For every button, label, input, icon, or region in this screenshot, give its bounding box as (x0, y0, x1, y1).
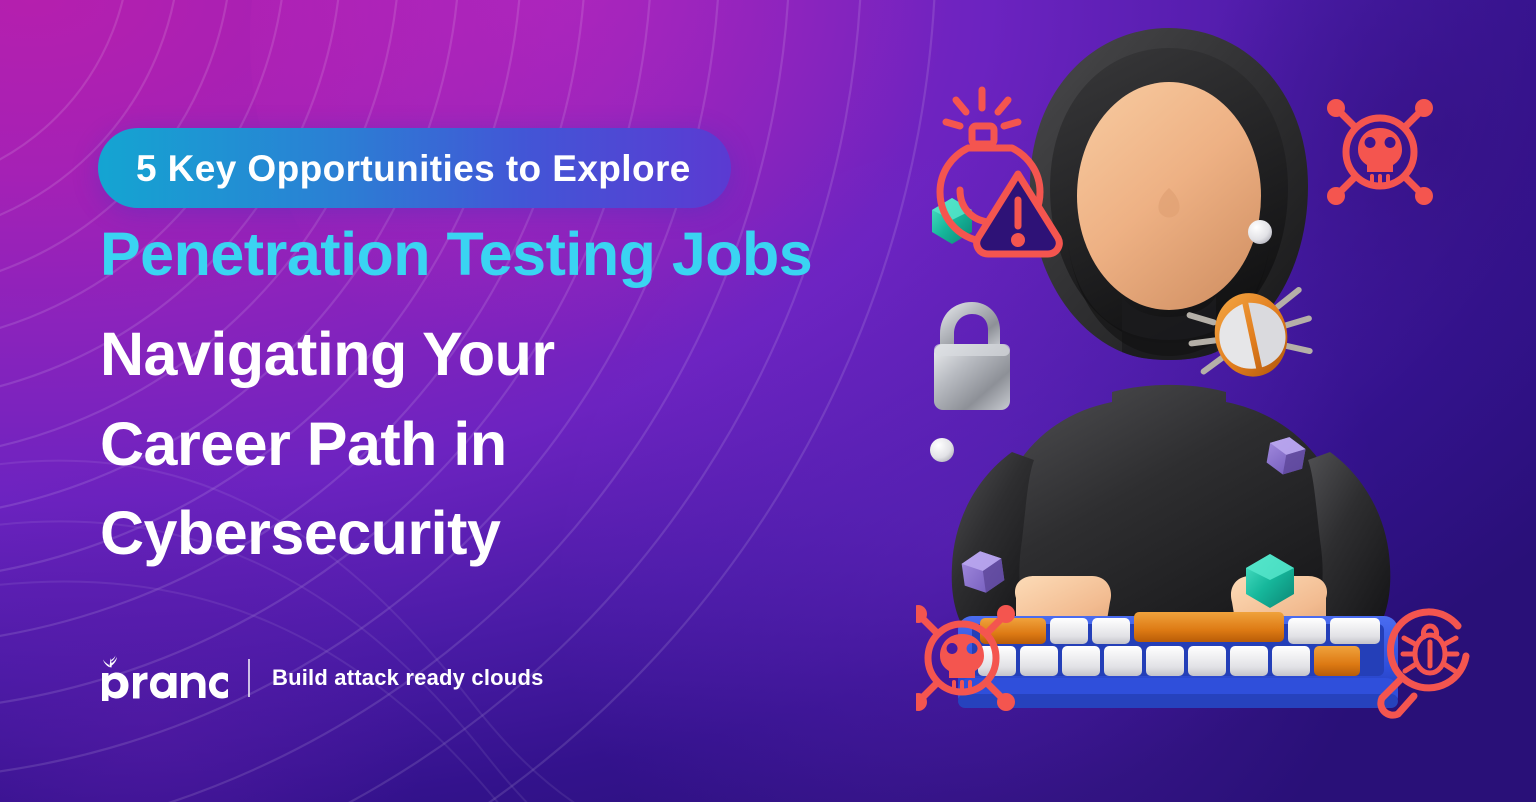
hacker-illustration (916, 0, 1536, 802)
brand-tagline: Build attack ready clouds (272, 665, 544, 691)
sphere-icon-2 (930, 438, 954, 462)
headline-line-1: Navigating Your (100, 310, 555, 400)
headline-line-3: Cybersecurity (100, 489, 555, 579)
promo-banner: 5 Key Opportunities to Explore Penetrati… (0, 0, 1536, 802)
banner-text-content: 5 Key Opportunities to Explore Penetrati… (98, 0, 998, 802)
headline-main: Navigating Your Career Path in Cybersecu… (100, 310, 555, 579)
prancer-logo (98, 655, 228, 701)
padlock-icon (934, 302, 1010, 410)
headline-line-2: Career Path in (100, 400, 555, 490)
keyboard-graphic (958, 612, 1398, 708)
skull-crossbones-icon (1327, 99, 1433, 205)
headline-accent-line: Penetration Testing Jobs (100, 222, 812, 287)
logo-divider (248, 659, 250, 697)
sphere-icon-1 (1248, 220, 1272, 244)
badge-label: 5 Key Opportunities to Explore (136, 150, 691, 187)
badge-pill: 5 Key Opportunities to Explore (98, 128, 731, 208)
brand-logo-row: Build attack ready clouds (98, 655, 544, 701)
